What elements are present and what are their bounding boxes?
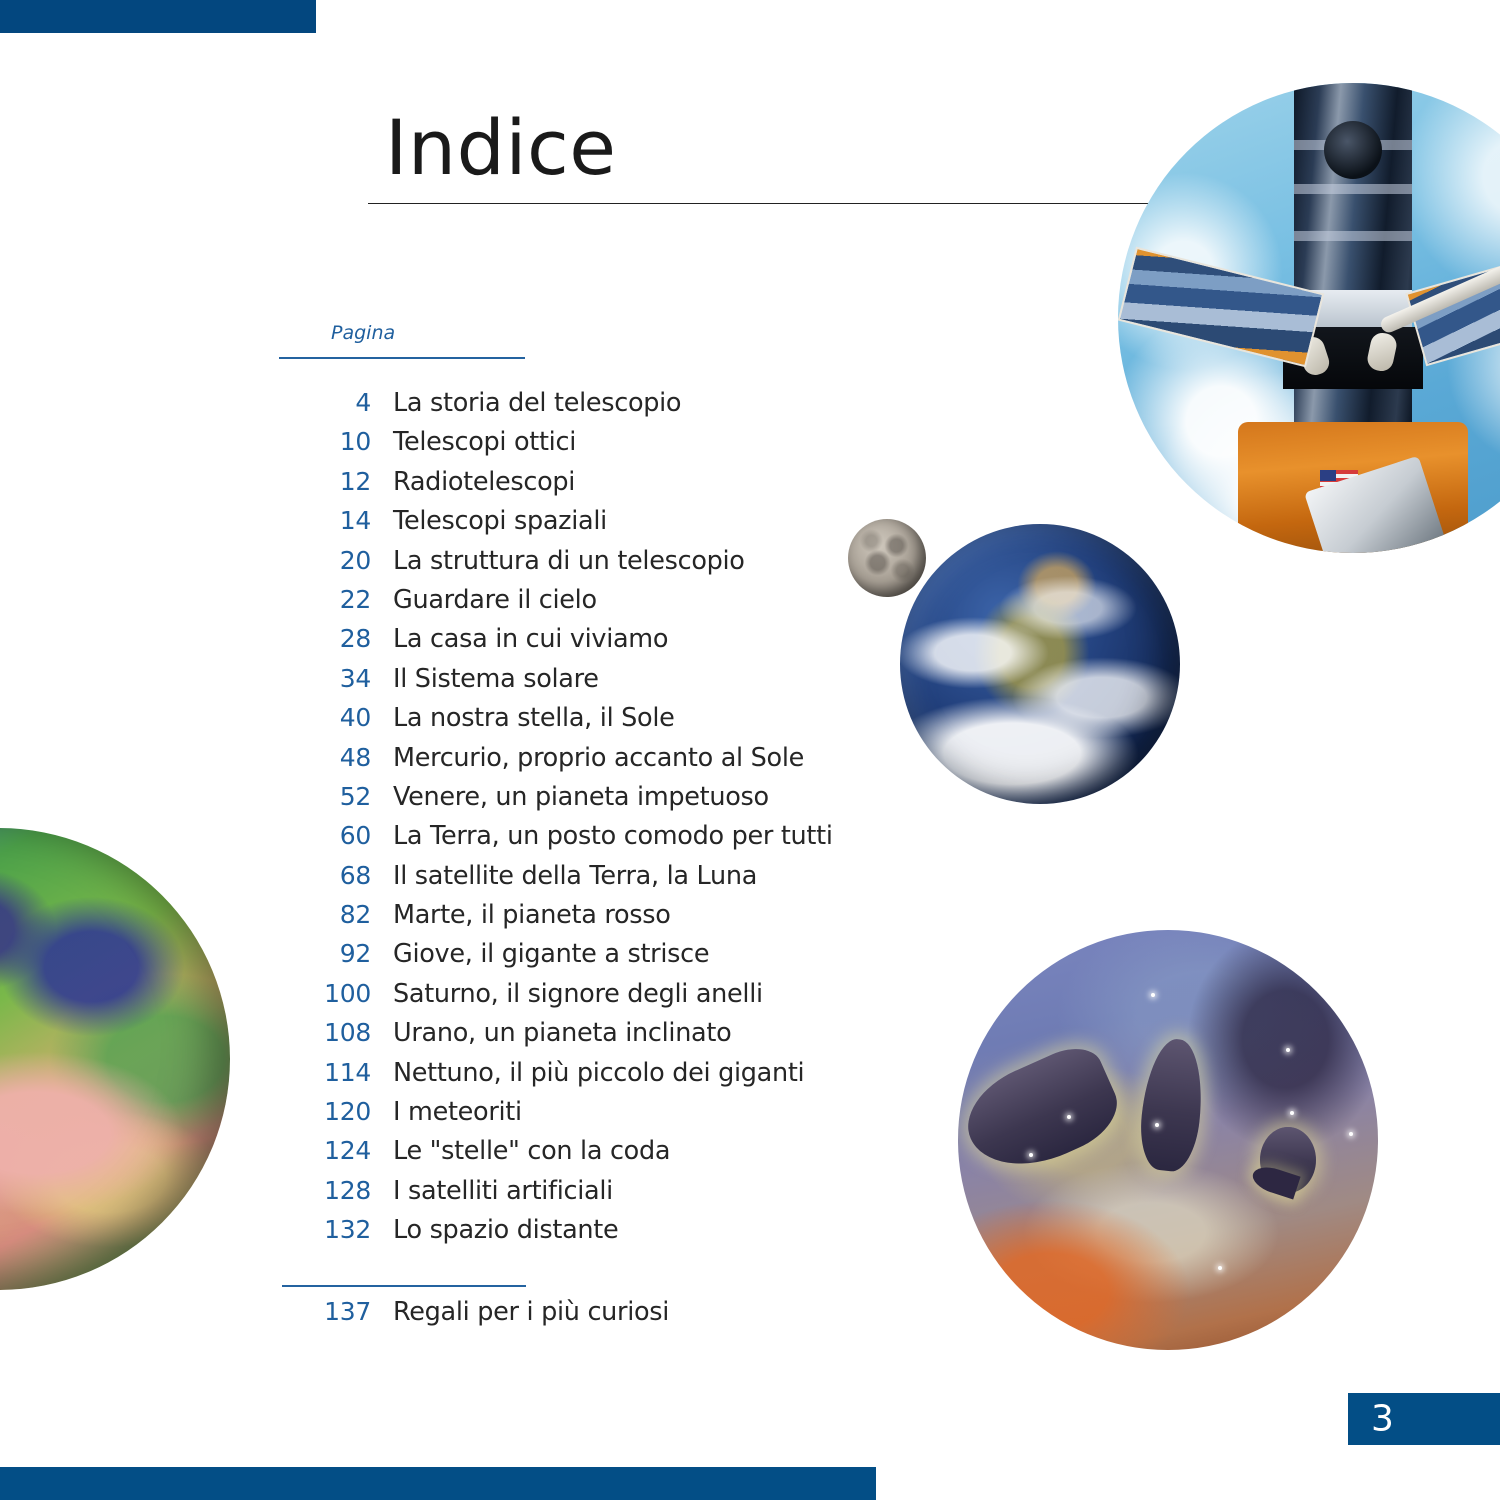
toc-entry-page: 14 [279, 506, 371, 535]
toc-entry-page: 20 [279, 546, 371, 575]
page-canvas: Indice Pagina 4La storia del telescopio1… [0, 0, 1500, 1500]
star [1290, 1111, 1294, 1115]
page-number-badge: 3 [1348, 1393, 1500, 1445]
hubble-space-telescope-photo [1118, 83, 1500, 553]
toc-entry-label: Nettuno, il più piccolo dei giganti [371, 1058, 804, 1088]
star [1151, 993, 1155, 997]
astronaut [1365, 331, 1398, 374]
toc-entry[interactable]: 100Saturno, il signore degli anelli [279, 979, 839, 1018]
moon-photo [848, 519, 926, 597]
toc-entry[interactable]: 4La storia del telescopio [279, 388, 839, 427]
toc-entry-page: 132 [279, 1215, 371, 1244]
toc-entry[interactable]: 34Il Sistema solare [279, 664, 839, 703]
toc-entry-page: 4 [279, 388, 371, 417]
toc-entry-page: 40 [279, 703, 371, 732]
toc-entry[interactable]: 114Nettuno, il più piccolo dei giganti [279, 1058, 839, 1097]
toc-entry[interactable]: 68Il satellite della Terra, la Luna [279, 861, 839, 900]
toc-entry-page: 12 [279, 467, 371, 496]
dust-pillar [958, 1038, 1129, 1187]
toc-entry-page: 52 [279, 782, 371, 811]
toc-entry-label: Venere, un pianeta impetuoso [371, 782, 769, 812]
toc-entry[interactable]: 120I meteoriti [279, 1097, 839, 1136]
toc-entry[interactable]: 40La nostra stella, il Sole [279, 703, 839, 742]
toc-entry-label: I meteoriti [371, 1097, 522, 1127]
toc-entry-label: La nostra stella, il Sole [371, 703, 675, 733]
toc-entry-page: 92 [279, 939, 371, 968]
toc-entry-label: Il Sistema solare [371, 664, 599, 694]
toc-entry-page: 108 [279, 1018, 371, 1047]
telescope-band [1294, 184, 1412, 194]
venus-radar-map-photo [0, 828, 230, 1290]
toc-entry-page: 34 [279, 664, 371, 693]
toc-entry[interactable]: 22Guardare il cielo [279, 585, 839, 624]
toc-entry-label: Saturno, il signore degli anelli [371, 979, 763, 1009]
toc-entry-page: 137 [279, 1297, 371, 1326]
toc-entry-page: 120 [279, 1097, 371, 1126]
column-header-pagina: Pagina [331, 322, 395, 344]
toc-entry-page: 128 [279, 1176, 371, 1205]
star [1067, 1115, 1071, 1119]
toc-entry-label: Le "stelle" con la coda [371, 1136, 670, 1166]
dust-pillar [1136, 1037, 1207, 1174]
toc-entry-label: Urano, un pianeta inclinato [371, 1018, 731, 1048]
toc-entry[interactable]: 60La Terra, un posto comodo per tutti [279, 821, 839, 860]
star [1218, 1266, 1222, 1270]
page-number-value: 3 [1371, 1399, 1394, 1440]
toc-entry-label: Telescopi spaziali [371, 506, 607, 536]
toc-entry-label: Il satellite della Terra, la Luna [371, 861, 757, 891]
decorative-bar-top [0, 0, 316, 33]
toc-entry[interactable]: 128I satelliti artificiali [279, 1176, 839, 1215]
toc-entry-page: 10 [279, 427, 371, 456]
toc-entry-label: Giove, il gigante a strisce [371, 939, 709, 969]
toc-entry-page: 68 [279, 861, 371, 890]
toc-entry[interactable]: 10Telescopi ottici [279, 427, 839, 466]
toc-entry[interactable]: 82Marte, il pianeta rosso [279, 900, 839, 939]
table-of-contents-extra: 137Regali per i più curiosi [279, 1297, 839, 1336]
toc-entry[interactable]: 132Lo spazio distante [279, 1215, 839, 1254]
toc-entry[interactable]: 108Urano, un pianeta inclinato [279, 1018, 839, 1057]
toc-entry[interactable]: 52Venere, un pianeta impetuoso [279, 782, 839, 821]
toc-entry-label: Lo spazio distante [371, 1215, 618, 1245]
toc-entry-label: La storia del telescopio [371, 388, 681, 418]
toc-footer-divider [282, 1285, 526, 1287]
toc-entry-label: Radiotelescopi [371, 467, 575, 497]
toc-entry-page: 48 [279, 743, 371, 772]
toc-entry-page: 82 [279, 900, 371, 929]
telescope-aperture [1324, 121, 1382, 179]
toc-entry[interactable]: 12Radiotelescopi [279, 467, 839, 506]
title-divider [368, 203, 1161, 204]
toc-entry-label: La Terra, un posto comodo per tutti [371, 821, 833, 851]
toc-entry-label: La casa in cui viviamo [371, 624, 668, 654]
nebula-photo [958, 930, 1378, 1350]
toc-entry-page: 124 [279, 1136, 371, 1165]
toc-entry-label: Guardare il cielo [371, 585, 597, 615]
earth-photo [900, 524, 1180, 804]
toc-entry-page: 22 [279, 585, 371, 614]
telescope-band [1294, 231, 1412, 241]
toc-entry-label: La struttura di un telescopio [371, 546, 745, 576]
toc-entry-label: Regali per i più curiosi [371, 1297, 669, 1327]
toc-entry-page: 28 [279, 624, 371, 653]
decorative-bar-bottom [0, 1467, 876, 1500]
page-title: Indice [385, 110, 616, 186]
toc-entry[interactable]: 92Giove, il gigante a strisce [279, 939, 839, 978]
toc-entry[interactable]: 48Mercurio, proprio accanto al Sole [279, 743, 839, 782]
column-header-divider [279, 357, 525, 359]
toc-entry-label: Telescopi ottici [371, 427, 576, 457]
toc-entry[interactable]: 20La struttura di un telescopio [279, 546, 839, 585]
toc-entry-label: Marte, il pianeta rosso [371, 900, 671, 930]
toc-entry-label: Mercurio, proprio accanto al Sole [371, 743, 804, 773]
toc-entry[interactable]: 14Telescopi spaziali [279, 506, 839, 545]
toc-entry-page: 60 [279, 821, 371, 850]
toc-entry-label: I satelliti artificiali [371, 1176, 613, 1206]
toc-entry-page: 114 [279, 1058, 371, 1087]
star [1349, 1132, 1353, 1136]
table-of-contents: 4La storia del telescopio10Telescopi ott… [279, 388, 839, 1255]
toc-entry[interactable]: 124Le "stelle" con la coda [279, 1136, 839, 1175]
toc-entry[interactable]: 28La casa in cui viviamo [279, 624, 839, 663]
toc-entry-page: 100 [279, 979, 371, 1008]
toc-entry[interactable]: 137Regali per i più curiosi [279, 1297, 839, 1336]
star [1286, 1048, 1290, 1052]
